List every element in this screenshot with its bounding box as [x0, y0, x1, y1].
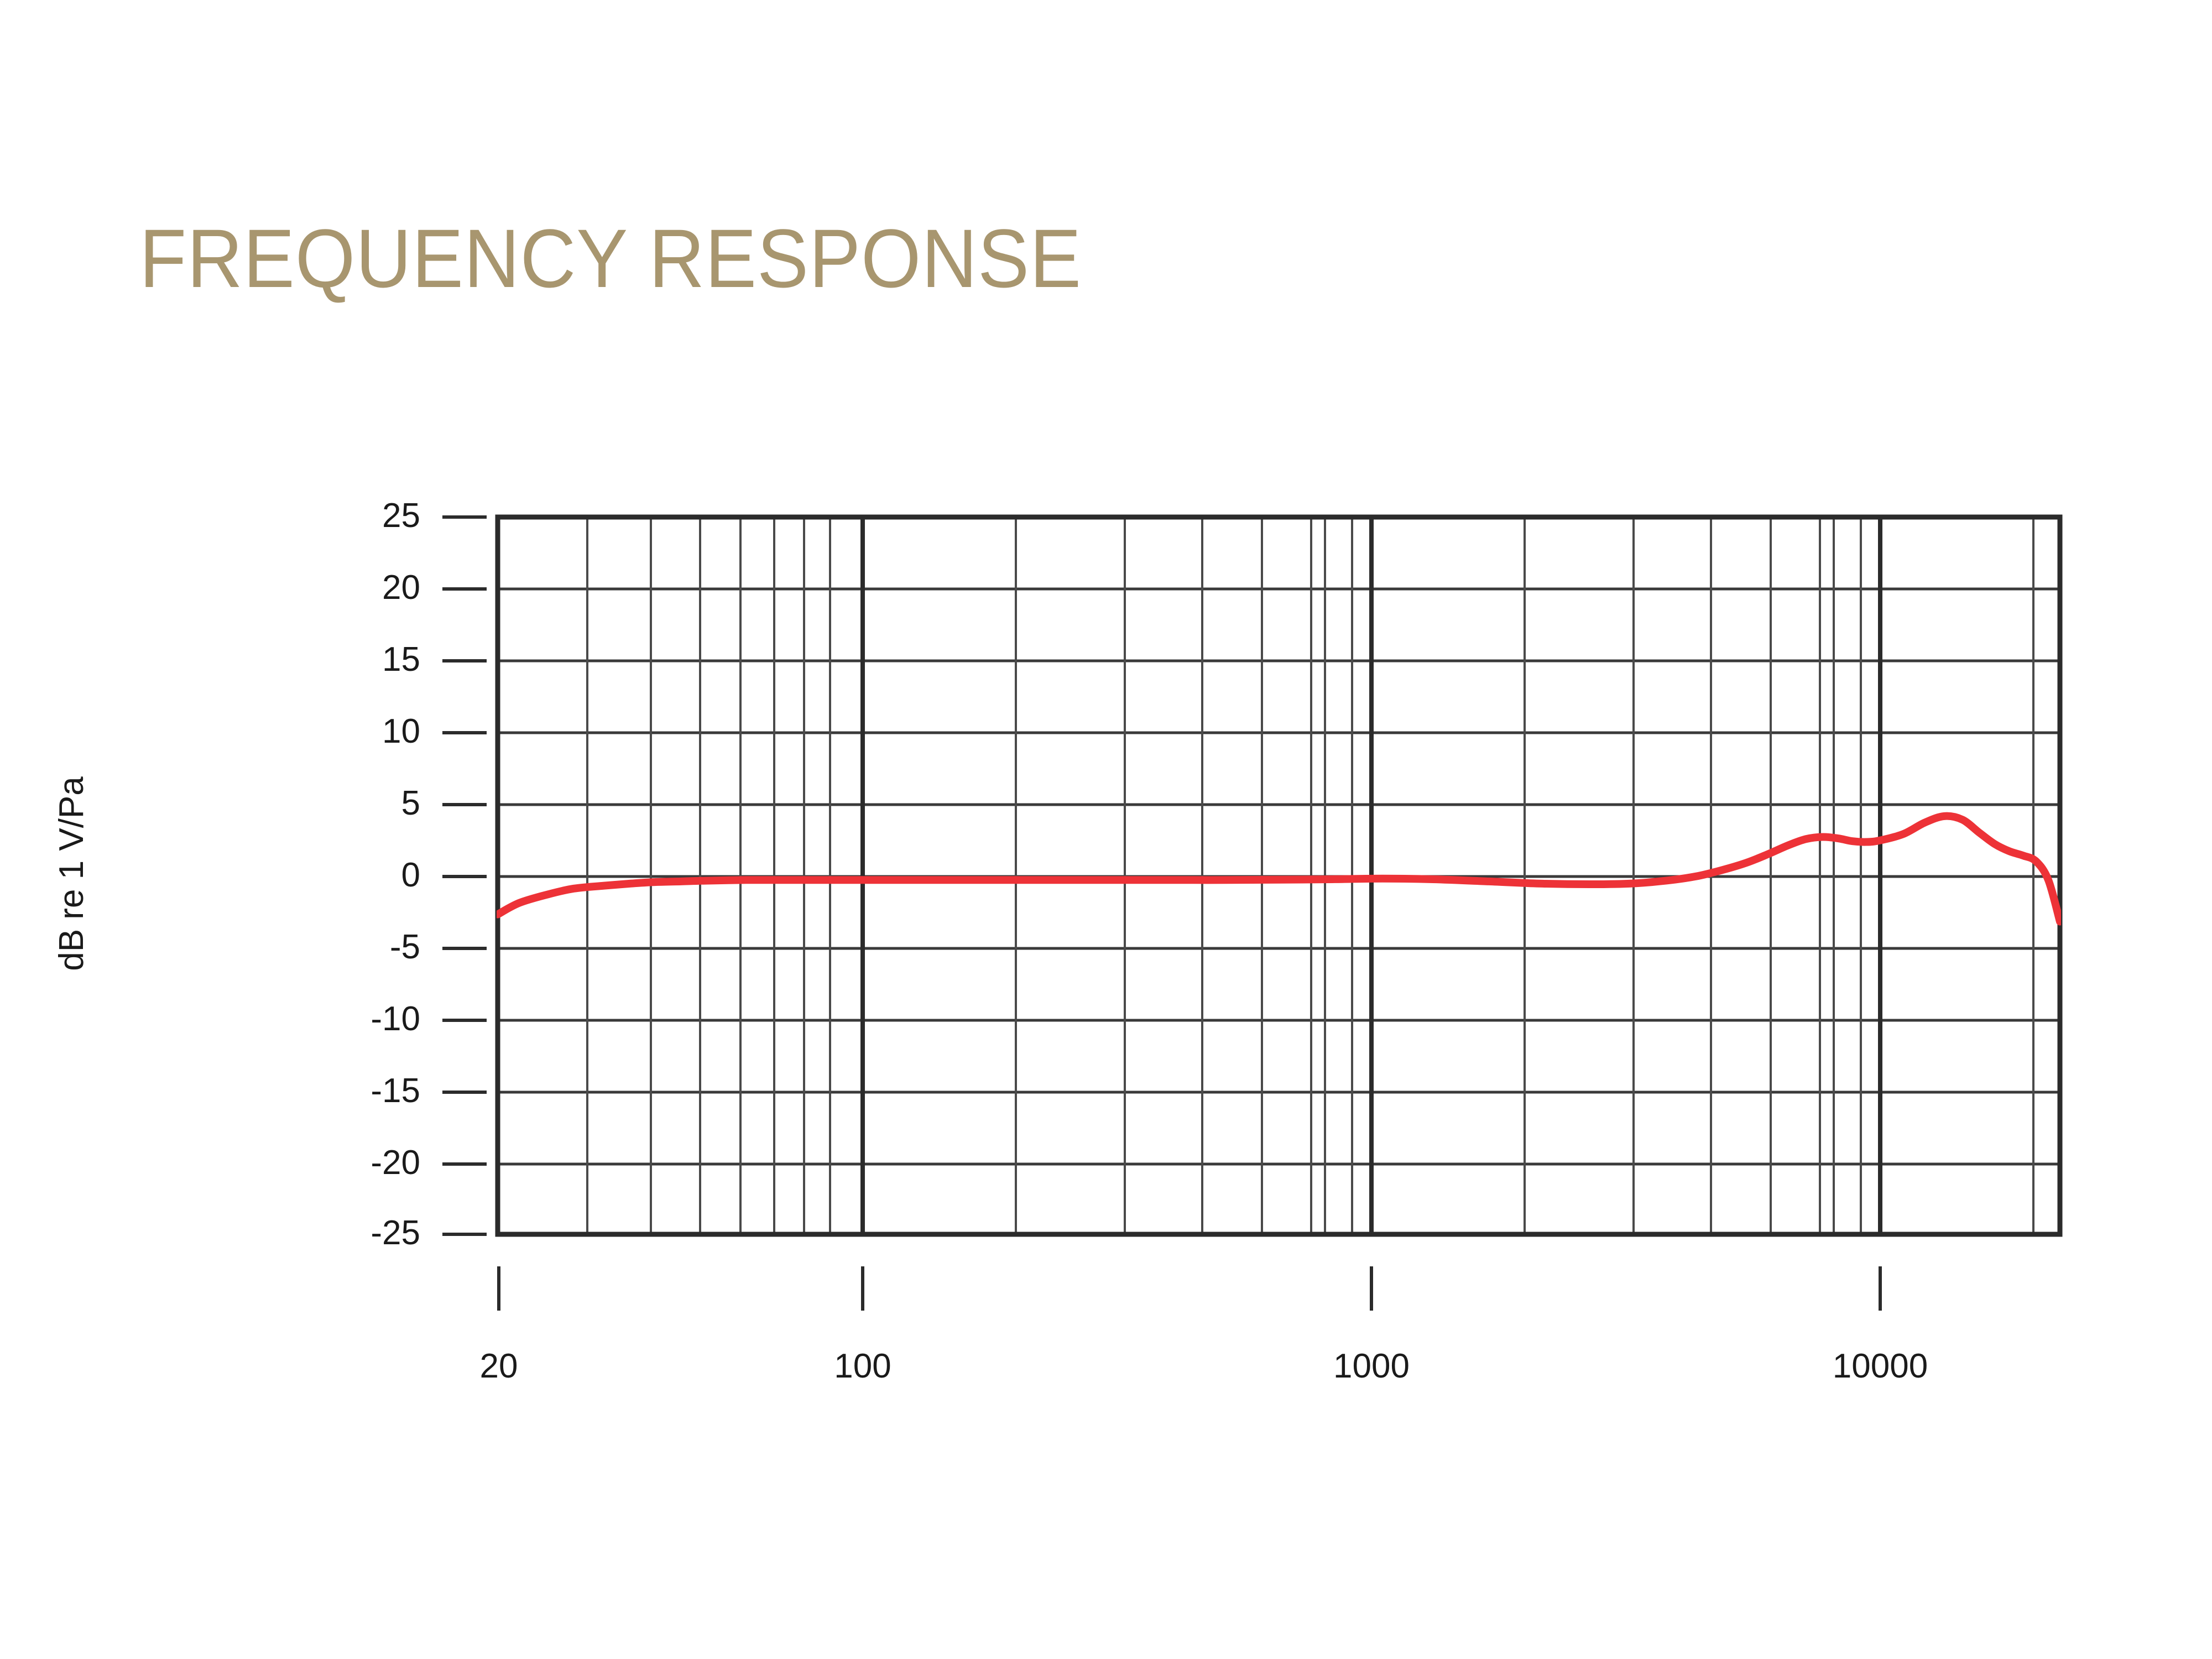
- y-tick-label: -10: [288, 1002, 420, 1036]
- y-tick-label: -20: [288, 1146, 420, 1180]
- x-tick-label: 10000: [1797, 1349, 1963, 1384]
- x-tick-label: 20: [416, 1349, 582, 1384]
- y-tick-label: -15: [288, 1074, 420, 1108]
- y-tick-marks: [442, 517, 487, 1234]
- y-tick-label: 25: [288, 499, 420, 533]
- x-tick-marks: [499, 1266, 1880, 1311]
- chart-canvas: [0, 0, 2212, 1659]
- y-tick-label: 5: [288, 786, 420, 821]
- y-tick-label: -5: [288, 930, 420, 964]
- page-root: FREQUENCY RESPONSE: [0, 0, 2212, 1659]
- y-tick-label: -25: [288, 1216, 420, 1250]
- horizontal-gridlines: [498, 517, 2060, 1234]
- frequency-response-figure: dB re 1 V/Pa 25 20 15 10 5 0 -5 -10 -15 …: [0, 0, 2212, 1659]
- x-tick-label: 100: [780, 1349, 946, 1384]
- y-tick-label: 10: [288, 714, 420, 749]
- frequency-response-curve: [498, 816, 2060, 922]
- x-tick-label: 1000: [1288, 1349, 1454, 1384]
- y-tick-label: 0: [288, 858, 420, 893]
- y-tick-label: 20: [288, 571, 420, 605]
- y-tick-label: 15: [288, 643, 420, 677]
- y-axis-title: dB re 1 V/Pa: [55, 776, 89, 971]
